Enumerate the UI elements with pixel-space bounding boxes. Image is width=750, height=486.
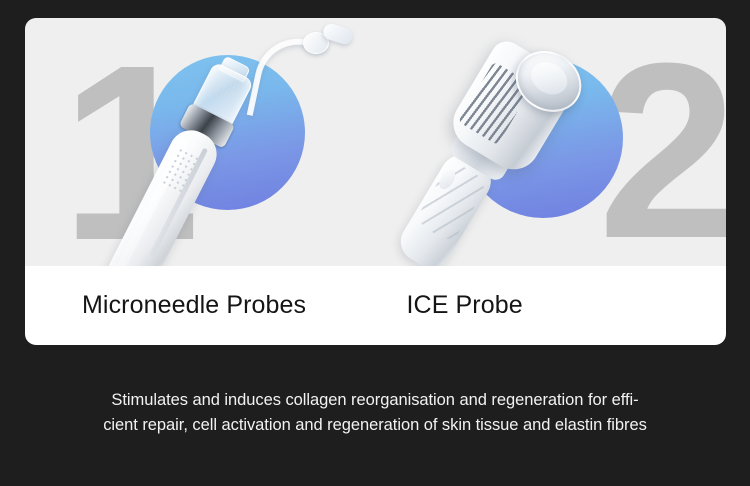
label-bar: Microneedle Probes ICE Probe bbox=[25, 266, 726, 345]
product-label-ice-probe: ICE Probe bbox=[376, 266, 727, 345]
product-panel: 1 2 bbox=[25, 18, 726, 266]
caption: Stimulates and induces collagen reorgani… bbox=[0, 388, 750, 438]
caption-line-1: Stimulates and induces collagen reorgani… bbox=[111, 391, 638, 409]
caption-line-2: cient repair, cell activation and regene… bbox=[24, 413, 726, 438]
microneedle-probe-icon bbox=[85, 18, 375, 266]
microneedle-pen-body bbox=[102, 87, 242, 266]
ice-probe-body bbox=[383, 36, 580, 266]
ice-probe-icon bbox=[425, 18, 725, 266]
product-label-microneedle-probes: Microneedle Probes bbox=[25, 266, 376, 345]
pen-handle-icon bbox=[100, 123, 224, 266]
infographic-root: 1 2 bbox=[0, 0, 750, 486]
